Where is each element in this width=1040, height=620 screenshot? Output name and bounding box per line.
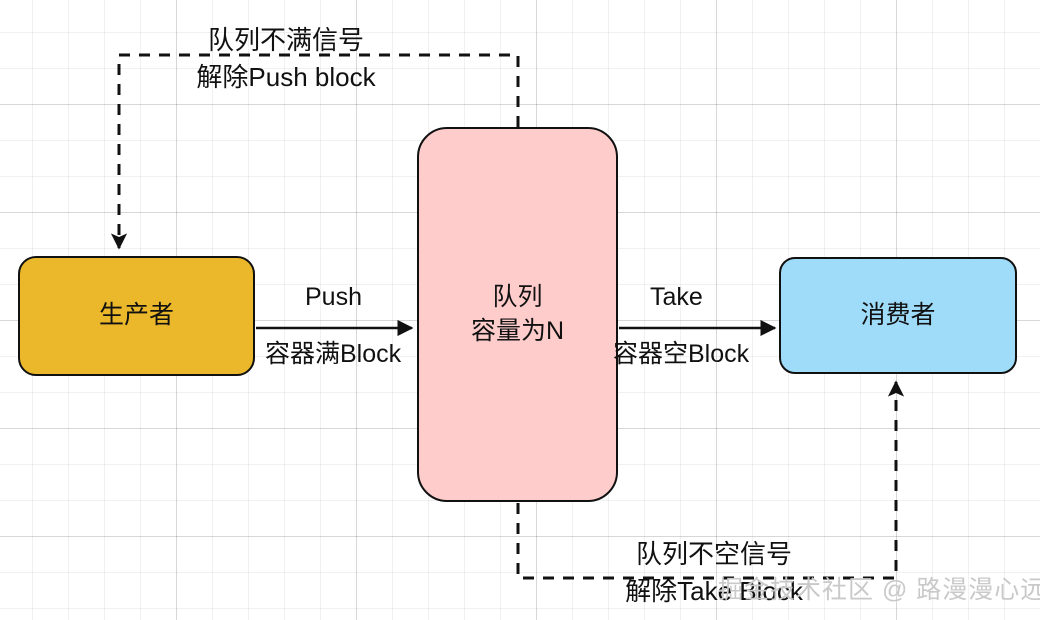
watermark: 掘金技术社区 @ 路漫漫心远 — [718, 570, 1040, 606]
edge-label-push: Push — [305, 281, 362, 314]
node-consumer[interactable]: 消费者 — [779, 257, 1017, 374]
edge-label-queue-not-full-signal: 队列不满信号 解除Push block — [180, 22, 392, 96]
diagram-canvas: 生产者 队列 容量为N 消费者 Push 容器满Block Take 容器空Bl… — [0, 0, 1040, 620]
node-producer[interactable]: 生产者 — [18, 256, 255, 376]
edge-label-container-empty-block: 容器空Block — [613, 338, 749, 371]
node-queue[interactable]: 队列 容量为N — [417, 127, 618, 502]
edge-label-container-full-block: 容器满Block — [265, 338, 401, 371]
edge-label-take: Take — [650, 281, 703, 314]
